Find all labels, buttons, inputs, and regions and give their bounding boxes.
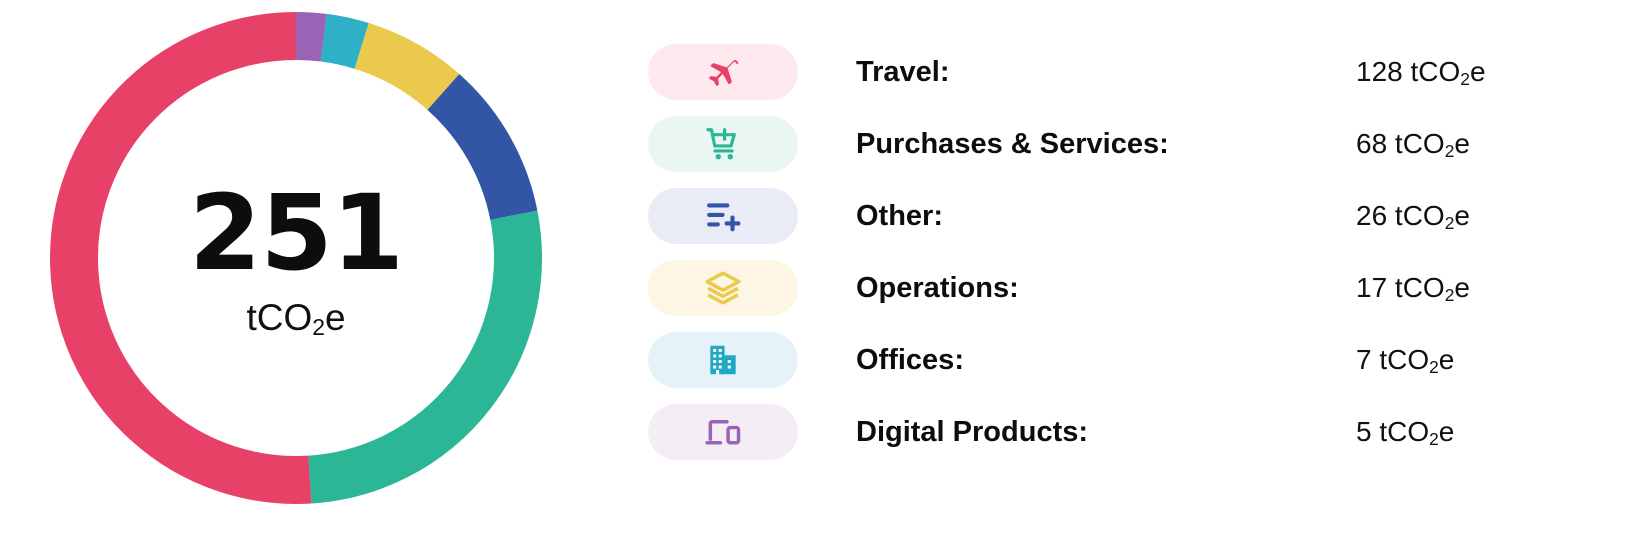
legend-value-sub-purchases-services: 2 (1445, 141, 1455, 161)
legend-value-suffix-other: e (1454, 200, 1470, 231)
shopping-cart-icon (704, 125, 742, 163)
legend-value-other: 26 tCO2e (1356, 200, 1615, 232)
donut-segment[interactable] (324, 38, 362, 46)
legend-value-sub-digital-products: 2 (1429, 429, 1439, 449)
icon-pill-other (648, 188, 798, 244)
legend-value-number-purchases-services: 68 (1356, 128, 1387, 159)
office-building-icon (704, 341, 742, 379)
emissions-donut-chart: 251 tCO2e (48, 10, 544, 506)
legend-value-suffix-digital-products: e (1439, 416, 1455, 447)
legend-value-purchases-services: 68 tCO2e (1356, 128, 1615, 160)
icon-pill-operations (648, 260, 798, 316)
icon-pill-offices (648, 332, 798, 388)
donut-segment[interactable] (74, 36, 310, 480)
donut-segment[interactable] (296, 36, 324, 38)
legend-value-number-offices: 7 (1356, 344, 1372, 375)
legend-value-sub-operations: 2 (1445, 285, 1455, 305)
donut-segment-group (74, 36, 518, 480)
legend-value-unit-purchases-services: tCO (1387, 128, 1445, 159)
donut-segment[interactable] (310, 215, 518, 479)
icon-pill-travel (648, 44, 798, 100)
legend-value-travel: 128 tCO2e (1356, 56, 1631, 88)
devices-icon (704, 413, 742, 451)
icon-pill-digital-products (648, 404, 798, 460)
legend-row-digital-products[interactable]: Digital Products: 5 tCO2e (648, 404, 1548, 460)
emissions-breakdown-panel: 251 tCO2e Travel: 128 tCO2e (0, 0, 1635, 550)
legend-value-number-travel: 128 (1356, 56, 1403, 87)
legend-value-operations: 17 tCO2e (1356, 272, 1615, 304)
legend-value-number-operations: 17 (1356, 272, 1387, 303)
donut-segment[interactable] (362, 46, 444, 92)
legend-label-purchases-services: Purchases & Services: (856, 128, 1356, 161)
legend-value-unit-travel: tCO (1403, 56, 1461, 87)
legend-row-offices[interactable]: Offices: 7 tCO2e (648, 332, 1548, 388)
legend-value-unit-operations: tCO (1387, 272, 1445, 303)
legend-row-travel[interactable]: Travel: 128 tCO2e (648, 44, 1548, 100)
legend-label-offices: Offices: (856, 344, 1356, 377)
legend-value-sub-other: 2 (1445, 213, 1455, 233)
legend-value-suffix-purchases-services: e (1454, 128, 1470, 159)
list-plus-icon (704, 197, 742, 235)
legend-value-suffix-operations: e (1454, 272, 1470, 303)
legend-value-offices: 7 tCO2e (1356, 344, 1599, 376)
legend-label-digital-products: Digital Products: (856, 416, 1356, 449)
airplane-icon (704, 53, 742, 91)
donut-segment[interactable] (443, 92, 513, 215)
legend-label-other: Other: (856, 200, 1356, 233)
legend-value-number-digital-products: 5 (1356, 416, 1372, 447)
legend-row-purchases-services[interactable]: Purchases & Services: 68 tCO2e (648, 116, 1548, 172)
icon-pill-purchases-services (648, 116, 798, 172)
legend-row-operations[interactable]: Operations: 17 tCO2e (648, 260, 1548, 316)
legend-value-suffix-offices: e (1439, 344, 1455, 375)
donut-svg (48, 10, 544, 506)
legend-value-sub-offices: 2 (1429, 357, 1439, 377)
legend-value-sub-travel: 2 (1460, 69, 1470, 89)
legend-value-digital-products: 5 tCO2e (1356, 416, 1599, 448)
legend-label-operations: Operations: (856, 272, 1356, 305)
legend-value-unit-other: tCO (1387, 200, 1445, 231)
layers-icon (704, 269, 742, 307)
legend-value-suffix-travel: e (1470, 56, 1486, 87)
emissions-legend-list: Travel: 128 tCO2e Purchases & Services: … (648, 44, 1548, 460)
legend-label-travel: Travel: (856, 56, 1356, 89)
legend-value-unit-digital-products: tCO (1372, 416, 1430, 447)
legend-value-number-other: 26 (1356, 200, 1387, 231)
legend-value-unit-offices: tCO (1372, 344, 1430, 375)
legend-row-other[interactable]: Other: 26 tCO2e (648, 188, 1548, 244)
